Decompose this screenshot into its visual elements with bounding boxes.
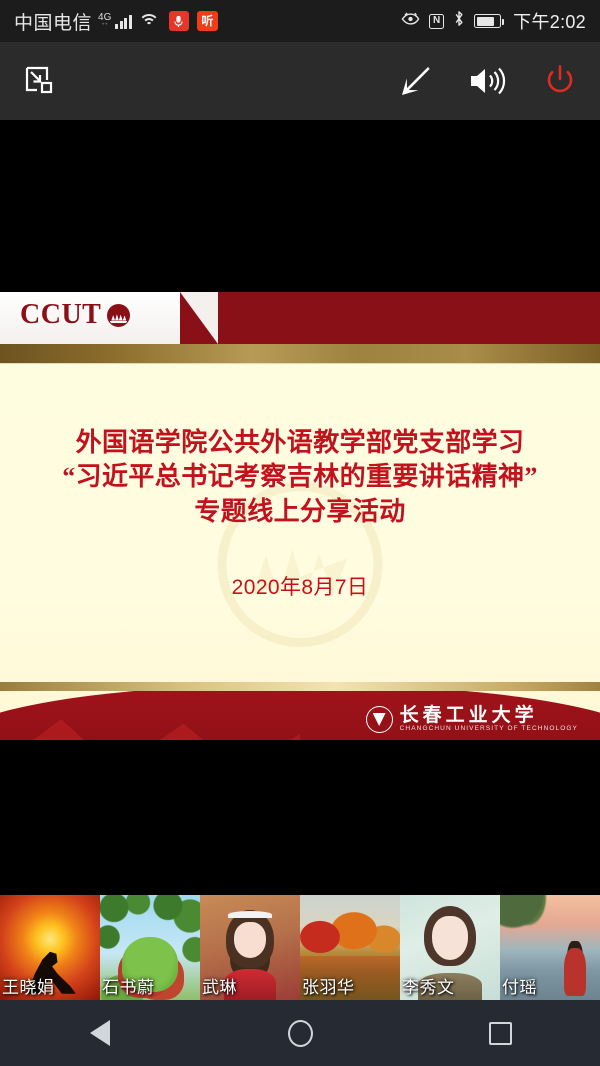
ccut-brand-label: CCUT [20,301,101,329]
recents-button[interactable] [456,1000,544,1066]
status-bar-right: N 下午2:02 [401,8,586,34]
video-stage[interactable]: CCUT 外国语学院公共外语教学部党支部学习 “习近平总书记考察吉林的重要讲话精… [0,120,600,740]
slide-header: CCUT [0,292,600,344]
slide-footer: 长春工业大学 CHANGCHUN UNIVERSITY OF TECHNOLOG… [0,682,600,740]
nfc-icon: N [429,14,444,29]
participant-name: 王晓娟 [2,979,55,998]
clock-label: 下午2:02 [513,8,586,34]
eye-comfort-icon [401,12,420,31]
participant-thumbnail[interactable]: 李秀文 [400,895,500,1000]
slide-title-line-1: 外国语学院公共外语教学部党支部学习 [0,426,600,460]
back-triangle-icon [90,1020,110,1046]
phone-screen: 中国电信 4G ⁺⁺ 听 N 下午2:02 [0,0,600,1066]
recents-square-icon [489,1022,512,1045]
slide-date-label: 2020年8月7日 [232,571,369,601]
status-bar: 中国电信 4G ⁺⁺ 听 N 下午2:02 [0,0,600,42]
participant-name: 李秀文 [402,979,455,998]
microphone-recording-icon [169,11,189,31]
participant-name: 武琳 [202,979,237,998]
university-names: 长春工业大学 CHANGCHUN UNIVERSITY OF TECHNOLOG… [400,706,578,733]
participant-thumbnail[interactable]: 张羽华 [300,895,400,1000]
participant-name: 张羽华 [302,979,355,998]
network-sub-glyph: ⁺⁺ [102,23,108,29]
wifi-icon [139,13,160,29]
slide-gold-divider [0,344,600,364]
bluetooth-icon [453,10,465,32]
signal-strength-icon [115,14,132,29]
shrink-to-floating-window-icon[interactable] [18,59,62,103]
app-toolbar [0,42,600,120]
university-name-cn: 长春工业大学 [400,706,578,725]
avatar-detail [228,911,272,918]
slide-body: 外国语学院公共外语教学部党支部学习 “习近平总书记考察吉林的重要讲话精神” 专题… [0,364,600,682]
participant-filmstrip[interactable]: 王晓娟 石书蔚 武琳 张羽华 李秀文 付瑶 [0,895,600,1000]
back-button[interactable] [56,1000,144,1066]
battery-icon [474,14,501,28]
volume-icon[interactable] [462,57,514,105]
android-nav-bar [0,1000,600,1066]
carrier-label: 中国电信 [14,8,92,35]
shared-slide: CCUT 外国语学院公共外语教学部党支部学习 “习近平总书记考察吉林的重要讲话精… [0,292,600,740]
slide-title: 外国语学院公共外语教学部党支部学习 “习近平总书记考察吉林的重要讲话精神” 专题… [0,426,600,529]
status-bar-left: 中国电信 4G ⁺⁺ 听 [14,8,401,35]
home-circle-icon [288,1020,313,1047]
university-crest-icon [366,706,393,733]
participant-name: 石书蔚 [102,979,155,998]
slide-title-line-2: “习近平总书记考察吉林的重要讲话精神” [0,460,600,494]
end-session-power-icon[interactable] [536,57,584,105]
participant-thumbnail[interactable]: 付瑶 [500,895,600,1000]
home-button[interactable] [256,1000,344,1066]
listen-app-badge-icon: 听 [197,11,218,31]
network-type-text: 4G [98,13,111,23]
ccut-crest-icon [107,304,130,327]
slide-title-line-3: 专题线上分享活动 [0,495,600,529]
network-type-label: 4G ⁺⁺ [98,13,111,29]
participant-thumbnail[interactable]: 石书蔚 [100,895,200,1000]
pointer-arrow-icon[interactable] [392,57,440,105]
university-branding: 长春工业大学 CHANGCHUN UNIVERSITY OF TECHNOLOG… [366,706,578,733]
participant-thumbnail[interactable]: 王晓娟 [0,895,100,1000]
ccut-brand: CCUT [20,301,130,329]
participant-name: 付瑶 [502,979,537,998]
participant-thumbnail[interactable]: 武琳 [200,895,300,1000]
university-name-en: CHANGCHUN UNIVERSITY OF TECHNOLOGY [400,726,578,733]
